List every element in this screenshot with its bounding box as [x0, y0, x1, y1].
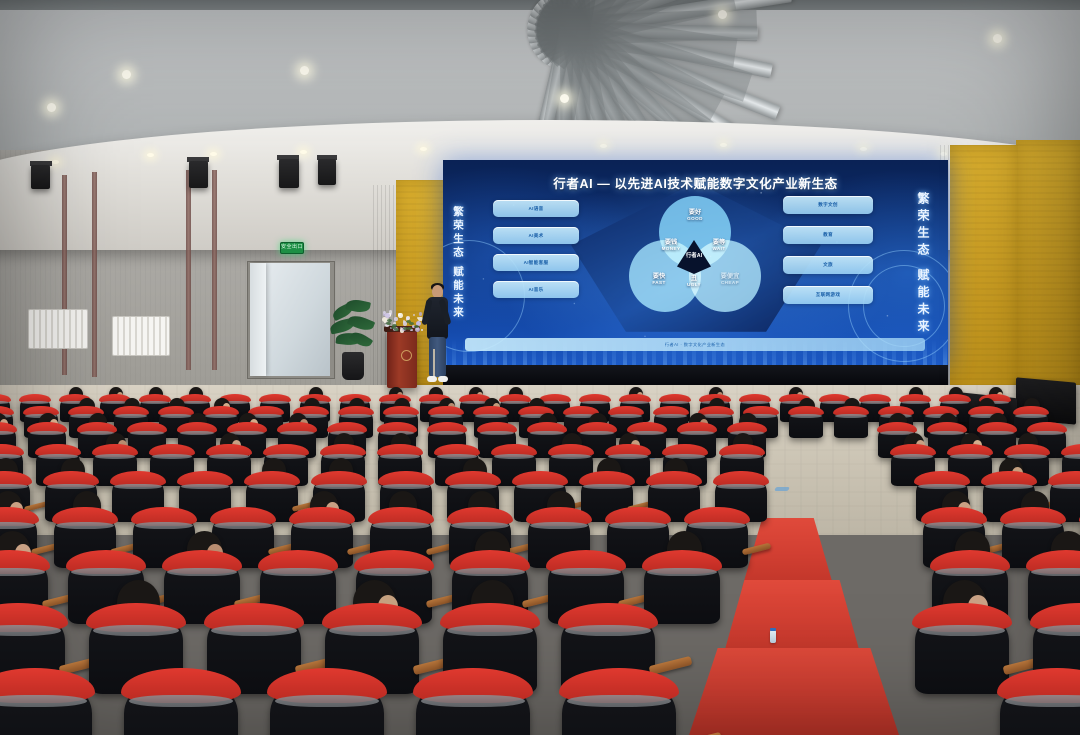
seat-trim	[609, 522, 666, 529]
seat-trim	[211, 625, 297, 635]
plant-leaf	[347, 313, 376, 334]
led-decor-ring	[863, 265, 945, 347]
flower	[413, 314, 415, 316]
door-leaf[interactable]	[250, 263, 266, 376]
seat-trim	[516, 484, 564, 490]
led-button-label: AI语音	[529, 206, 544, 212]
seat-trim	[475, 414, 506, 418]
seat-trim	[95, 454, 135, 459]
led-left-button: AI美术	[493, 227, 579, 244]
seat-trim	[205, 414, 236, 418]
presenter-leg-gap	[433, 349, 435, 377]
seat-trim	[93, 625, 179, 635]
venn-label-cheap: 要便宜 CHEAP	[709, 274, 751, 286]
seat-trim	[209, 454, 249, 459]
seat-trim	[71, 568, 141, 576]
podium-emblem	[401, 350, 412, 361]
soffit-downlight	[147, 153, 154, 157]
seat-trim	[180, 431, 215, 435]
seat-trim	[0, 625, 61, 635]
seat-trim	[722, 454, 762, 459]
led-right-button: 数字文创	[783, 196, 873, 214]
soffit-downlight	[300, 150, 307, 154]
ceiling-downlight	[993, 34, 1002, 43]
seat-trim	[293, 522, 350, 529]
seat-trim	[56, 522, 113, 529]
exit-sign: 安全出口	[280, 242, 304, 254]
ceiling-downlight	[718, 10, 727, 19]
auditorium-seat[interactable]	[0, 674, 92, 735]
seat-trim	[950, 454, 990, 459]
led-left-button: AI智能客服	[493, 254, 579, 271]
seat-trim	[340, 414, 371, 418]
foliage	[387, 319, 392, 322]
led-button-label: AI音乐	[529, 287, 544, 293]
seat-trim	[680, 431, 715, 435]
led-button-label: AI美术	[529, 233, 544, 239]
ceiling-downlight	[300, 66, 309, 75]
auditorium-seat[interactable]	[1000, 674, 1080, 735]
soffit-downlight	[420, 147, 427, 151]
led-presentation-screen: 行者AI — 以先进AI技术赋能数字文化产业新生态 繁荣生态 赋能未来 繁荣生态…	[443, 160, 948, 365]
soffit-downlight	[600, 144, 607, 148]
yellow-acoustic-panel	[1016, 140, 1080, 410]
audience-seating-area	[0, 390, 1080, 735]
flower-arrangement	[381, 309, 423, 331]
seat-trim	[494, 454, 534, 459]
auditorium-seat[interactable]	[562, 674, 676, 735]
led-button-label: 数字文创	[818, 202, 838, 208]
water-bottle-cap	[770, 628, 776, 631]
seat-trim	[421, 695, 526, 707]
red-carpet-aisle	[742, 518, 834, 588]
venn-diagram: 要好 GOOD 要快 FAST 要便宜 CHEAP 要钱 MONEY 要等 WA…	[621, 196, 767, 314]
auditorium-seat[interactable]	[834, 408, 868, 438]
plant-leaf	[349, 329, 373, 350]
yellow-acoustic-panel	[950, 145, 1018, 410]
seat-trim	[918, 484, 966, 490]
ceiling-downlight	[122, 70, 131, 79]
seat-trim	[114, 484, 162, 490]
seat-trim	[893, 454, 933, 459]
presenter-shoe	[438, 376, 448, 382]
led-button-label: 互联网游戏	[816, 292, 840, 298]
seat-trim	[980, 431, 1015, 435]
led-right-button: 教育	[783, 226, 873, 244]
plant-pot	[342, 352, 364, 380]
seat-trim	[985, 484, 1033, 490]
seat-trim	[790, 414, 821, 418]
led-right-button: 互联网游戏	[783, 286, 873, 304]
seat-trim	[930, 431, 965, 435]
seat-trim	[583, 484, 631, 490]
auditorium-seat[interactable]	[789, 408, 823, 438]
led-screen-base-skirt	[443, 365, 948, 387]
venn-label-wait: 要等 WAIT	[701, 240, 737, 252]
seat-trim	[919, 625, 1005, 635]
seat-trim	[447, 625, 533, 635]
flower	[385, 313, 390, 318]
seat-trim	[30, 431, 65, 435]
seat-trim	[0, 522, 35, 529]
seat-trim	[382, 484, 430, 490]
auditorium-seat[interactable]	[270, 674, 384, 735]
wall-radiator	[112, 316, 170, 356]
venn-label-good: 要好 GOOD	[675, 210, 715, 222]
seat-trim	[688, 522, 745, 529]
seat-trim	[480, 431, 515, 435]
led-bottom-bar: 行者AI · 数字文化产业新生态	[465, 338, 925, 351]
venn-label-money: 要钱 MONEY	[653, 240, 689, 252]
seat-trim	[315, 484, 363, 490]
seat-trim	[329, 625, 415, 635]
flower	[421, 329, 423, 331]
seat-trim	[1015, 414, 1046, 418]
foliage	[394, 328, 399, 331]
wall-speaker	[31, 165, 50, 189]
seat-trim	[551, 454, 591, 459]
seat-trim	[650, 484, 698, 490]
presenter-shoe	[427, 376, 437, 382]
led-button-label: AI智能客服	[524, 260, 549, 266]
led-title: 行者AI — 以先进AI技术赋能数字文化产业新生态	[443, 173, 948, 192]
led-button-label: 教育	[823, 232, 833, 238]
flower	[394, 317, 398, 321]
led-button-label: 文旅	[823, 262, 833, 268]
seat-trim	[449, 484, 497, 490]
led-left-button: AI语音	[493, 200, 579, 217]
red-carpet-aisle	[688, 648, 900, 735]
water-bottle	[770, 630, 776, 643]
seat-trim	[280, 431, 315, 435]
seat-trim	[835, 414, 866, 418]
venn-label-fast: 要快 FAST	[639, 274, 679, 286]
soffit-downlight	[720, 143, 727, 147]
wall-speaker	[318, 159, 336, 185]
seat-trim	[1030, 431, 1065, 435]
wall-pillar	[186, 170, 191, 370]
seat-trim	[580, 431, 615, 435]
flower	[419, 312, 422, 315]
seat-trim	[565, 625, 651, 635]
seat-trim	[115, 414, 146, 418]
seat-trim	[263, 568, 333, 576]
wall-speaker	[279, 159, 299, 188]
seat-trim	[925, 522, 982, 529]
auditorium-seat[interactable]	[915, 608, 1009, 694]
seat-trim	[160, 414, 191, 418]
seat-trim	[551, 568, 621, 576]
foliage	[386, 322, 391, 325]
seat-trim	[135, 522, 192, 529]
seat-trim	[430, 414, 461, 418]
wall-pillar	[212, 170, 217, 370]
seat-trim	[129, 695, 234, 707]
led-side-text-left: 繁荣生态 赋能未来	[451, 206, 465, 320]
soffit-downlight	[860, 147, 867, 151]
wall-pillar	[92, 172, 97, 377]
seat-trim	[248, 484, 296, 490]
seat-trim	[430, 431, 465, 435]
soffit-downlight	[52, 160, 59, 164]
auditorium-seat[interactable]	[644, 554, 720, 624]
seat-trim	[530, 431, 565, 435]
led-right-button: 文旅	[783, 256, 873, 274]
wall-speaker	[189, 161, 208, 188]
seat-trim	[380, 454, 420, 459]
seat-trim	[181, 484, 229, 490]
seat-trim	[1004, 522, 1061, 529]
seat-trim	[455, 568, 525, 576]
auditorium-seat[interactable]	[124, 674, 238, 735]
seat-trim	[275, 695, 380, 707]
seat-trim	[385, 414, 416, 418]
led-side-text-right: 繁荣生态 赋能未来	[916, 192, 930, 336]
soffit-downlight	[210, 152, 217, 156]
seat-trim	[167, 568, 237, 576]
venn-label-ugly: 丑 UGLY	[677, 276, 711, 288]
seat-trim	[647, 568, 717, 576]
seat-trim	[567, 695, 672, 707]
ceiling-downlight	[560, 94, 569, 103]
wall-radiator	[28, 309, 88, 349]
seat-trim	[530, 522, 587, 529]
seat-trim	[655, 414, 686, 418]
seat-trim	[451, 522, 508, 529]
podium	[387, 330, 417, 388]
seat-trim	[610, 414, 641, 418]
auditorium-scene: 安全出口 行者AI — 以先进AI技术赋能数字文化产业新生态 繁荣生态 赋能未来…	[0, 0, 1080, 735]
ceiling-downlight	[47, 103, 56, 112]
seat-trim	[214, 522, 271, 529]
potted-plant	[330, 300, 376, 382]
seat-trim	[717, 484, 765, 490]
seat-trim	[152, 454, 192, 459]
presenter-person	[425, 285, 449, 387]
presenter-legs	[429, 337, 446, 377]
seat-trim	[359, 568, 429, 576]
auditorium-seat[interactable]	[416, 674, 530, 735]
seat-trim	[372, 522, 429, 529]
seat-trim	[47, 484, 95, 490]
led-left-button: AI音乐	[493, 281, 579, 298]
seat-trim	[935, 568, 1005, 576]
seat-trim	[130, 431, 165, 435]
